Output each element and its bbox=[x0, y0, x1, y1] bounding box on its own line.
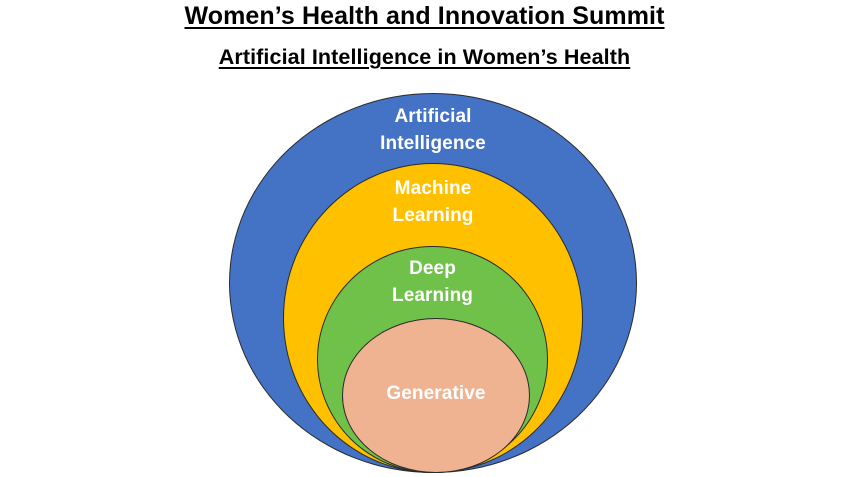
circle-label-artificial-intelligence: Artificial Intelligence bbox=[230, 104, 636, 158]
slide-canvas: Women’s Health and Innovation Summit Art… bbox=[0, 0, 849, 477]
ai-hierarchy-diagram: Artificial Intelligence Machine Learning… bbox=[0, 0, 849, 477]
circle-generative[interactable]: Generative bbox=[342, 318, 530, 473]
circle-label-generative: Generative bbox=[343, 381, 529, 408]
